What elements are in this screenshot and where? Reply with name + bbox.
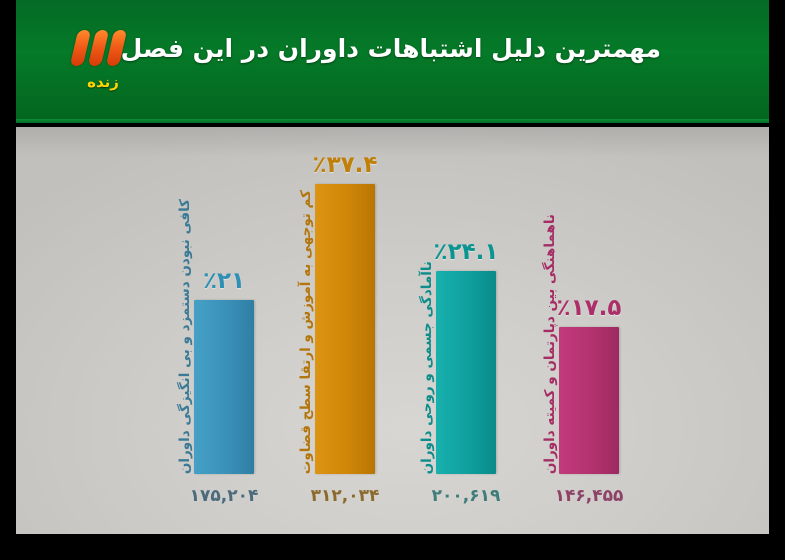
bar-rect[interactable]: ٪۲۱ <box>194 300 254 474</box>
bar-percent-label: ٪۲۴.۱ <box>414 239 518 265</box>
bar-category-label: ناهماهنگی بین دپارتمان و کمیته داوران <box>544 214 558 474</box>
bar-percent-label: ٪۳۷.۴ <box>293 152 397 178</box>
broadcast-screen: زنده مهمترین دلیل اشتباهات داوران در این… <box>0 0 785 560</box>
bar-rect[interactable]: ٪۱۷.۵ <box>559 327 619 474</box>
bar-count-label: ۳۱۲,۰۳۴ <box>275 486 415 506</box>
bar-count-label: ۱۷۵,۲۰۴ <box>154 486 294 506</box>
bar-group: ناهماهنگی بین دپارتمان و کمیته داوران ٪۱… <box>559 327 619 474</box>
bar-percent-label: ٪۱۷.۵ <box>537 295 641 321</box>
bar-group: کم توجهی به آموزش و ارتقا سطح قضاوت ٪۳۷.… <box>315 184 375 474</box>
letterbox-left <box>0 0 16 560</box>
bar-rect[interactable]: ٪۳۷.۴ <box>315 184 375 474</box>
bar-count-label: ۱۴۶,۴۵۵ <box>519 486 659 506</box>
bar-category-label: ناآمادگی جسمی و روحی داوران <box>421 261 435 474</box>
letterbox-right <box>769 0 785 560</box>
chart-stage: کافی نبودن دستمزد و بی انگیزگی داوران ٪۲… <box>16 127 769 534</box>
letterbox-bottom <box>0 534 785 560</box>
bar-group: ناآمادگی جسمی و روحی داوران ٪۲۴.۱ ۲۰۰,۶۱… <box>436 271 496 474</box>
bar-category-label: کم توجهی به آموزش و ارتقا سطح قضاوت <box>300 190 314 474</box>
bar-chart: کافی نبودن دستمزد و بی انگیزگی داوران ٪۲… <box>16 127 769 534</box>
bar-category-label: کافی نبودن دستمزد و بی انگیزگی داوران <box>179 199 193 474</box>
bar-rect[interactable]: ٪۲۴.۱ <box>436 271 496 474</box>
page-title: مهمترین دلیل اشتباهات داوران در این فصل <box>101 32 661 66</box>
bar-percent-label: ٪۲۱ <box>172 268 276 294</box>
bar-group: کافی نبودن دستمزد و بی انگیزگی داوران ٪۲… <box>194 300 254 474</box>
header-banner: زنده مهمترین دلیل اشتباهات داوران در این… <box>16 0 769 123</box>
bar-count-label: ۲۰۰,۶۱۹ <box>396 486 536 506</box>
live-badge: زنده <box>62 73 144 91</box>
